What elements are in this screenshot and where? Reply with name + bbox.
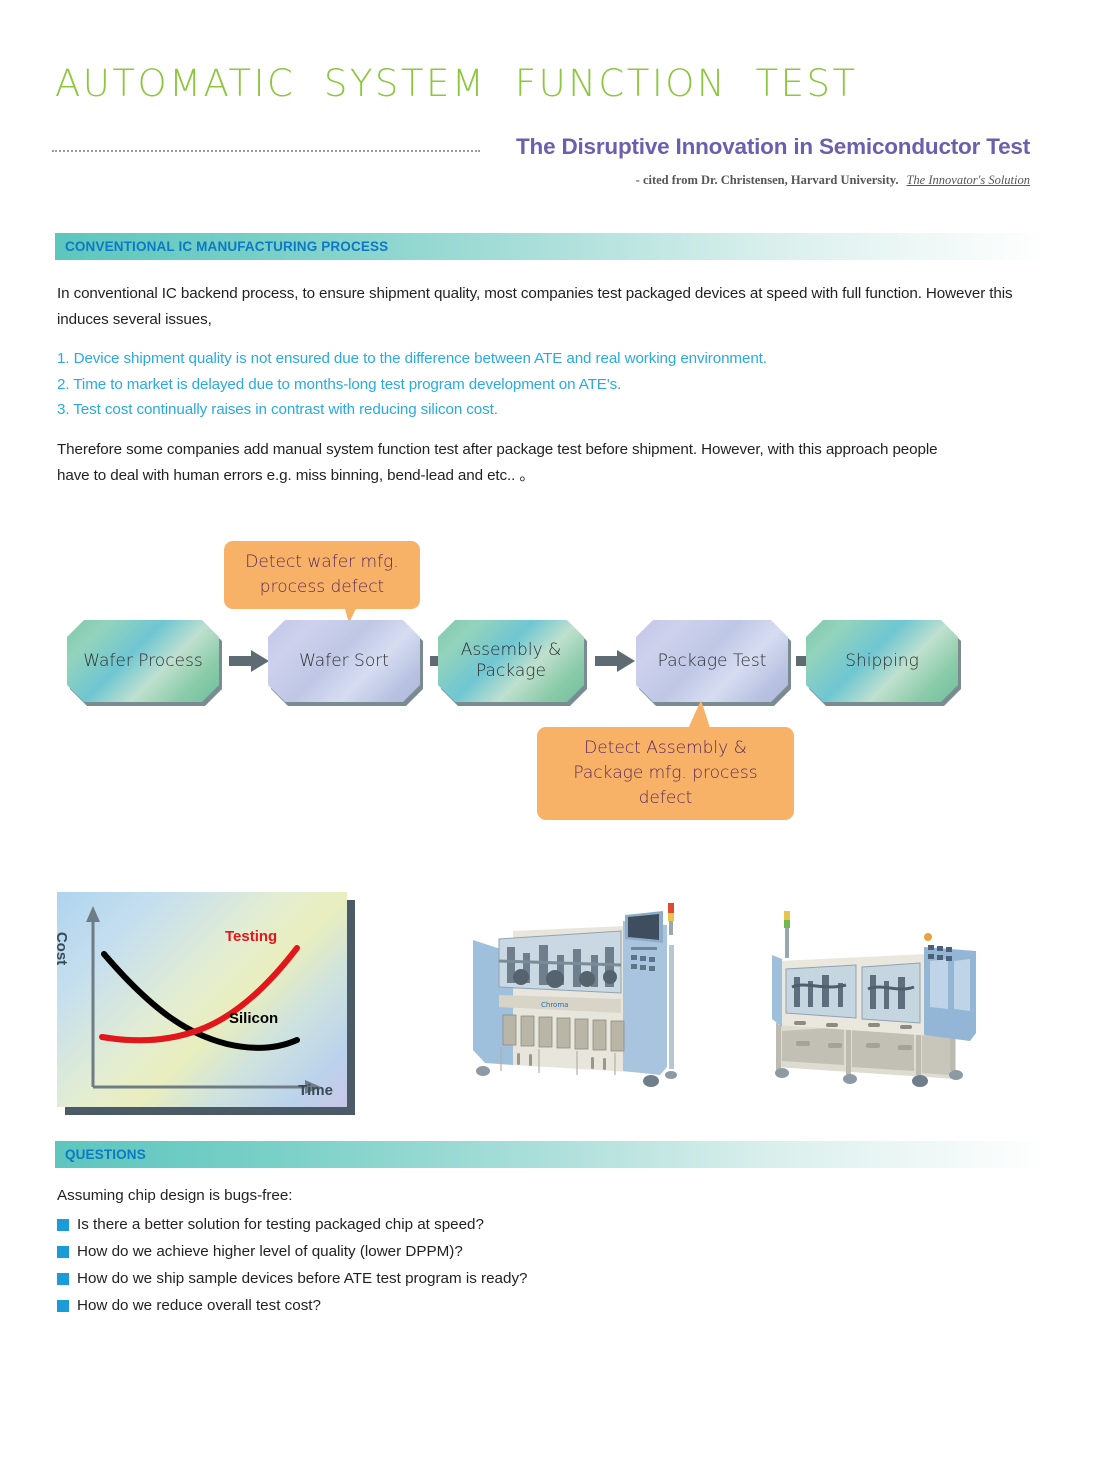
process-issues-list: 1. Device shipment quality is not ensure… bbox=[57, 346, 1017, 423]
assembly-label-line2: Package bbox=[476, 661, 546, 681]
chart-series-label-testing: Testing bbox=[225, 928, 277, 945]
svg-text:Chroma: Chroma bbox=[541, 1001, 568, 1009]
flow-node-wafer-process: Wafer Process bbox=[67, 620, 219, 702]
chart-series-label-silicon: Silicon bbox=[229, 1010, 278, 1027]
callout-wafer-defect: Detect wafer mfg. process defect bbox=[224, 541, 420, 609]
photo-test-handler-machine-2 bbox=[748, 895, 988, 1090]
square-bullet-icon bbox=[57, 1273, 69, 1285]
chart-plot-area: Cost Time Testing Silicon bbox=[57, 892, 347, 1107]
question-text-3: How do we ship sample devices before ATE… bbox=[77, 1265, 528, 1292]
chart-ylabel: Cost bbox=[57, 932, 70, 965]
section-header-process-label: CONVENTIONAL IC MANUFACTURING PROCESS bbox=[55, 239, 388, 254]
callout-wafer-defect-line1: Detect wafer mfg. bbox=[238, 550, 406, 575]
square-bullet-icon bbox=[57, 1246, 69, 1258]
list-item: How do we reduce overall test cost? bbox=[57, 1292, 957, 1319]
section-header-questions-label: QUESTIONS bbox=[55, 1147, 146, 1162]
callout-assembly-defect: Detect Assembly & Package mfg. process d… bbox=[537, 727, 794, 820]
flow-node-shipping: Shipping bbox=[806, 620, 958, 702]
process-intro-text: In conventional IC backend process, to e… bbox=[57, 281, 1017, 333]
chart-svg bbox=[57, 892, 347, 1107]
assembly-label-line1: Assembly & bbox=[461, 640, 562, 660]
section-header-process: CONVENTIONAL IC MANUFACTURING PROCESS bbox=[55, 233, 1047, 260]
callout-wafer-defect-tail bbox=[338, 592, 368, 624]
flow-node-wafer-process-label: Wafer Process bbox=[83, 651, 202, 672]
questions-list: Is there a better solution for testing p… bbox=[57, 1211, 957, 1319]
flow-node-package-test: Package Test bbox=[636, 620, 788, 702]
callout-assembly-defect-line1: Detect Assembly & bbox=[551, 736, 780, 761]
section-header-questions: QUESTIONS bbox=[55, 1141, 1047, 1168]
issue-item-3: 3. Test cost continually raises in contr… bbox=[57, 397, 1017, 423]
page-subtitle: The Disruptive Innovation in Semiconduct… bbox=[516, 134, 1030, 160]
flow-node-assembly-package: Assembly &Package bbox=[438, 620, 584, 702]
list-item: How do we ship sample devices before ATE… bbox=[57, 1265, 957, 1292]
question-text-4: How do we reduce overall test cost? bbox=[77, 1292, 321, 1319]
citation-line: - cited from Dr. Christensen, Harvard Un… bbox=[636, 173, 1030, 188]
issue-item-1: 1. Device shipment quality is not ensure… bbox=[57, 346, 1017, 372]
callout-wafer-defect-line2: process defect bbox=[238, 575, 406, 600]
cost-vs-time-chart: Cost Time Testing Silicon bbox=[57, 892, 355, 1115]
list-item: How do we achieve higher level of qualit… bbox=[57, 1238, 957, 1265]
list-item: Is there a better solution for testing p… bbox=[57, 1211, 957, 1238]
flow-node-wafer-sort: Wafer Sort bbox=[268, 620, 420, 702]
flow-node-wafer-sort-label: Wafer Sort bbox=[299, 651, 389, 672]
flow-node-assembly-package-label: Assembly &Package bbox=[461, 640, 562, 682]
photo-test-handler-machine-1: Chroma bbox=[455, 895, 695, 1090]
issue-item-2: 2. Time to market is delayed due to mont… bbox=[57, 372, 1017, 398]
question-text-1: Is there a better solution for testing p… bbox=[77, 1211, 484, 1238]
flow-node-package-test-label: Package Test bbox=[658, 651, 767, 672]
header-dotted-divider bbox=[52, 150, 480, 152]
question-text-2: How do we achieve higher level of qualit… bbox=[77, 1238, 463, 1265]
citation-source: The Innovator's Solution bbox=[898, 173, 1030, 187]
flow-arrow-1 bbox=[229, 650, 269, 672]
square-bullet-icon bbox=[57, 1300, 69, 1312]
citation-prefix: - cited from Dr. Christensen, Harvard Un… bbox=[636, 173, 899, 187]
presentation-page: AUTOMATIC SYSTEM FUNCTION TEST The Disru… bbox=[0, 0, 1102, 1470]
chart-xlabel: Time bbox=[298, 1082, 333, 1099]
callout-assembly-defect-line2: Package mfg. process defect bbox=[551, 761, 780, 811]
flow-node-shipping-label: Shipping bbox=[845, 651, 919, 672]
square-bullet-icon bbox=[57, 1219, 69, 1231]
questions-intro: Assuming chip design is bugs-free: bbox=[57, 1187, 293, 1204]
process-conclusion-text: Therefore some companies add manual syst… bbox=[57, 437, 957, 489]
page-title: AUTOMATIC SYSTEM FUNCTION TEST bbox=[55, 62, 858, 105]
flow-arrow-3 bbox=[595, 650, 635, 672]
